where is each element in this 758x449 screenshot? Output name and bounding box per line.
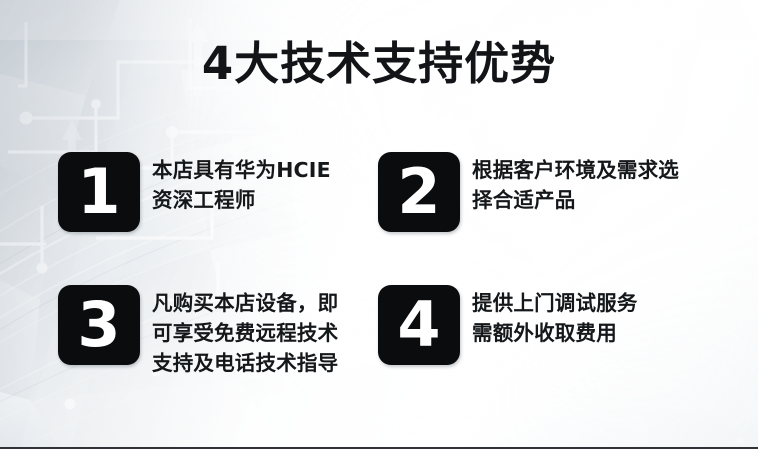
feature-text-line: 资深工程师 [152, 185, 331, 215]
feature-grid: 1 本店具有华为HCIE 资深工程师 2 根据客户环境及需求选 择合适产品 3 … [58, 152, 706, 378]
poster-content: 4大技术支持优势 1 本店具有华为HCIE 资深工程师 2 根据客户环境及需求选… [0, 0, 758, 449]
feature-text-2: 根据客户环境及需求选 择合适产品 [472, 152, 679, 215]
feature-text-line: 根据客户环境及需求选 [472, 155, 679, 185]
feature-text-line: 择合适产品 [472, 185, 679, 215]
feature-item-4: 4 提供上门调试服务 需额外收取费用 [378, 285, 706, 378]
feature-text-3: 凡购买本店设备，即 可享受免费远程技术 支持及电话技术指导 [152, 285, 338, 378]
feature-text-line: 凡购买本店设备，即 [152, 288, 338, 318]
page-title: 4大技术支持优势 [0, 38, 758, 90]
feature-number-badge: 1 [58, 152, 140, 232]
promo-poster: 4大技术支持优势 1 本店具有华为HCIE 资深工程师 2 根据客户环境及需求选… [0, 0, 758, 449]
feature-text-line: 提供上门调试服务 [472, 288, 638, 318]
feature-text-line: 本店具有华为HCIE [152, 155, 331, 185]
feature-number-badge: 3 [58, 285, 140, 365]
feature-text-line: 可享受免费远程技术 [152, 318, 338, 348]
feature-text-4: 提供上门调试服务 需额外收取费用 [472, 285, 638, 348]
feature-item-1: 1 本店具有华为HCIE 资深工程师 [58, 152, 378, 285]
feature-item-3: 3 凡购买本店设备，即 可享受免费远程技术 支持及电话技术指导 [58, 285, 378, 378]
feature-text-line: 支持及电话技术指导 [152, 348, 338, 378]
feature-text-1: 本店具有华为HCIE 资深工程师 [152, 152, 331, 215]
feature-number-badge: 4 [378, 285, 460, 365]
feature-number-badge: 2 [378, 152, 460, 232]
feature-item-2: 2 根据客户环境及需求选 择合适产品 [378, 152, 706, 285]
feature-text-line: 需额外收取费用 [472, 318, 638, 348]
